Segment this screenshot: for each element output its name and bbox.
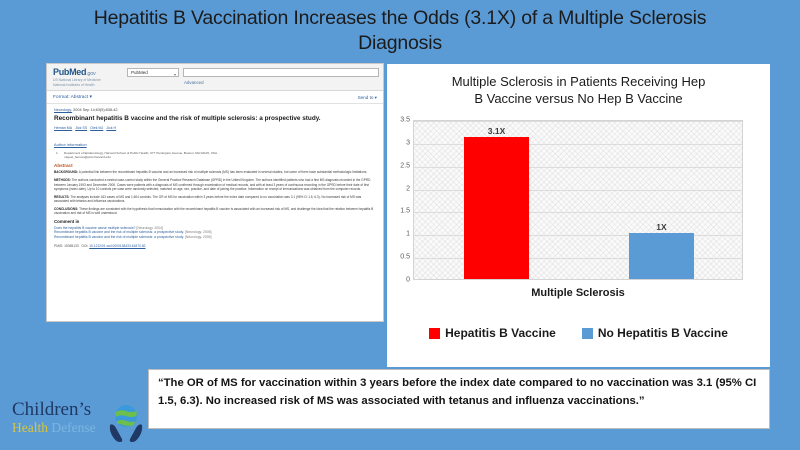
agency-line-1: US National Library of Medicine	[53, 78, 101, 83]
y-axis-tick-label: 1.5	[400, 208, 410, 215]
format-dropdown[interactable]: Format: Abstract ▾	[53, 95, 92, 100]
advanced-search-link[interactable]: Advanced	[184, 80, 204, 85]
y-axis-tick-label: 2.5	[400, 162, 410, 169]
comment-reference: [Neurology. 2005]	[185, 230, 212, 234]
bar-1	[464, 137, 529, 279]
page-title: Hepatitis B Vaccination Increases the Od…	[60, 6, 740, 56]
doi-link[interactable]: 10.1212/01.wnl.0000138433.61870.82	[89, 244, 145, 248]
y-axis: 00.511.522.533.5	[387, 120, 413, 280]
pmid-label: PMID:	[54, 244, 63, 248]
pubmed-screenshot-panel: PubMed.gov US National Library of Medici…	[46, 63, 384, 322]
x-axis-label: Multiple Sclerosis	[413, 287, 743, 299]
logo-word-defense: Defense	[51, 420, 95, 435]
legend-item-no-hepatitis-b-vaccine: No Hepatitis B Vaccine	[582, 326, 728, 340]
abstract-section-methods: METHODS: The authors conducted a nested …	[54, 178, 375, 191]
database-select[interactable]: PubMed ▾	[127, 68, 179, 77]
agency-line-2: National Institutes of Health	[53, 83, 101, 88]
pubmed-header: PubMed.gov US National Library of Medici…	[47, 64, 383, 91]
abstract-heading: Abstract	[54, 163, 375, 168]
format-toolbar: Format: Abstract ▾ Send to ▾	[47, 91, 383, 104]
chevron-down-icon: ▾	[174, 71, 176, 79]
citation-line: Neurology. 2004 Sep 14;63(5):838-42.	[54, 108, 375, 112]
comment-item[interactable]: Recombinant hepatitis B vaccine and the …	[54, 235, 375, 240]
send-label: Send to	[358, 95, 374, 100]
logo-word-health: Health	[12, 420, 48, 435]
globe-in-hands-icon	[106, 401, 146, 443]
chart-title-line-2: B Vaccine versus No Hep B Vaccine	[413, 90, 744, 107]
author-information-toggle[interactable]: Author information	[54, 142, 87, 147]
pubmed-logo: PubMed.gov	[53, 67, 95, 77]
chart-title: Multiple Sclerosis in Patients Receiving…	[387, 64, 770, 107]
abstract-section-text: The analyses include 163 cases of MS and…	[54, 195, 361, 203]
y-axis-tick-label: 1	[406, 231, 410, 238]
abstract-section-label: BACKGROUND:	[54, 170, 78, 174]
bar-2	[629, 233, 694, 279]
comment-in-heading: Comment in	[54, 219, 375, 224]
y-axis-tick-label: 0	[406, 277, 410, 284]
y-axis-tick-label: 2	[406, 185, 410, 192]
pubmed-article-body: Neurology. 2004 Sep 14;63(5):838-42. Rec…	[47, 104, 383, 248]
author-item[interactable]: Jick H	[106, 126, 116, 130]
gridline	[414, 121, 742, 122]
pubmed-logo-text: PubMed	[53, 67, 86, 77]
logo-line-health-defense: Health Defense	[12, 420, 96, 435]
author-list: Hernán MAJick SSOlek MJJick H	[54, 126, 375, 130]
pmid-value: 15365133	[64, 244, 79, 248]
legend-swatch-red	[429, 328, 440, 339]
logo-line-children: Children’s	[12, 400, 96, 420]
bar-data-label: 3.1X	[488, 126, 506, 136]
pubmed-logo-gov: .gov	[86, 71, 95, 77]
logo-wordmark: Children’s Health Defense	[12, 400, 96, 435]
search-input[interactable]	[183, 68, 379, 77]
author-item[interactable]: Olek MJ	[90, 126, 103, 130]
quote-box: “The OR of MS for vaccination within 3 y…	[148, 369, 770, 429]
plot-area: 3.1X1X	[413, 120, 743, 280]
journal-link[interactable]: Neurology.	[54, 108, 72, 112]
legend-label: Hepatitis B Vaccine	[445, 326, 556, 340]
comment-text: Recombinant hepatitis B vaccine and the …	[54, 230, 184, 234]
plot-wrapper: 00.511.522.533.5 3.1X1X Multiple Scleros…	[387, 120, 770, 310]
abstract-section-conclusions: CONCLUSIONS: These findings are consiste…	[54, 207, 375, 216]
bar-chart-panel: Multiple Sclerosis in Patients Receiving…	[387, 64, 770, 367]
y-axis-tick-label: 3	[406, 139, 410, 146]
affiliation-email: miguel_hernan@post.harvard.edu	[56, 155, 375, 159]
abstract-section-text: A potential link between the recombinant…	[78, 170, 367, 174]
comment-text: Recombinant hepatitis B vaccine and the …	[54, 235, 184, 239]
organization-logo: Children’s Health Defense	[8, 398, 150, 446]
legend-label: No Hepatitis B Vaccine	[598, 326, 728, 340]
quote-text: “The OR of MS for vaccination within 3 y…	[158, 375, 760, 410]
affiliation-block: 1Department of Epidemiology, Harvard Sch…	[54, 151, 375, 159]
abstract-section-text: The authors conducted a nested case-cont…	[54, 178, 370, 191]
format-label: Format: Abstract	[53, 95, 88, 100]
bar-data-label: 1X	[656, 222, 666, 232]
pubmed-agency-lines: US National Library of Medicine National…	[53, 78, 101, 87]
citation-details: 2004 Sep 14;63(5):838-42.	[72, 108, 118, 112]
doi-label: DOI:	[82, 244, 89, 248]
y-axis-tick-label: 0.5	[400, 254, 410, 261]
abstract-section-text: These findings are consistent with the h…	[54, 207, 373, 215]
author-item[interactable]: Jick SS	[75, 126, 87, 130]
affiliation-number: 1	[56, 151, 64, 155]
comment-text: Does the hepatitis B vaccine cause multi…	[54, 226, 135, 230]
identifiers-row: PMID: 15365133 DOI: 10.1212/01.wnl.00001…	[54, 244, 375, 248]
author-item[interactable]: Hernán MA	[54, 126, 72, 130]
database-select-value: PubMed	[131, 70, 148, 75]
abstract-section-background: BACKGROUND: A potential link between the…	[54, 170, 375, 174]
send-to-dropdown[interactable]: Send to ▾	[358, 95, 377, 101]
legend-item-hepatitis-b-vaccine: Hepatitis B Vaccine	[429, 326, 556, 340]
comment-reference: [Neurology. 2005]	[185, 235, 212, 239]
chart-legend: Hepatitis B Vaccine No Hepatitis B Vacci…	[387, 326, 770, 340]
comment-reference: [Neurology. 2004]	[136, 226, 163, 230]
legend-swatch-blue	[582, 328, 593, 339]
article-title: Recombinant hepatitis B vaccine and the …	[54, 115, 375, 123]
abstract-section-results: RESULTS: The analyses include 163 cases …	[54, 195, 375, 204]
y-axis-tick-label: 3.5	[400, 117, 410, 124]
chart-title-line-1: Multiple Sclerosis in Patients Receiving…	[413, 73, 744, 90]
